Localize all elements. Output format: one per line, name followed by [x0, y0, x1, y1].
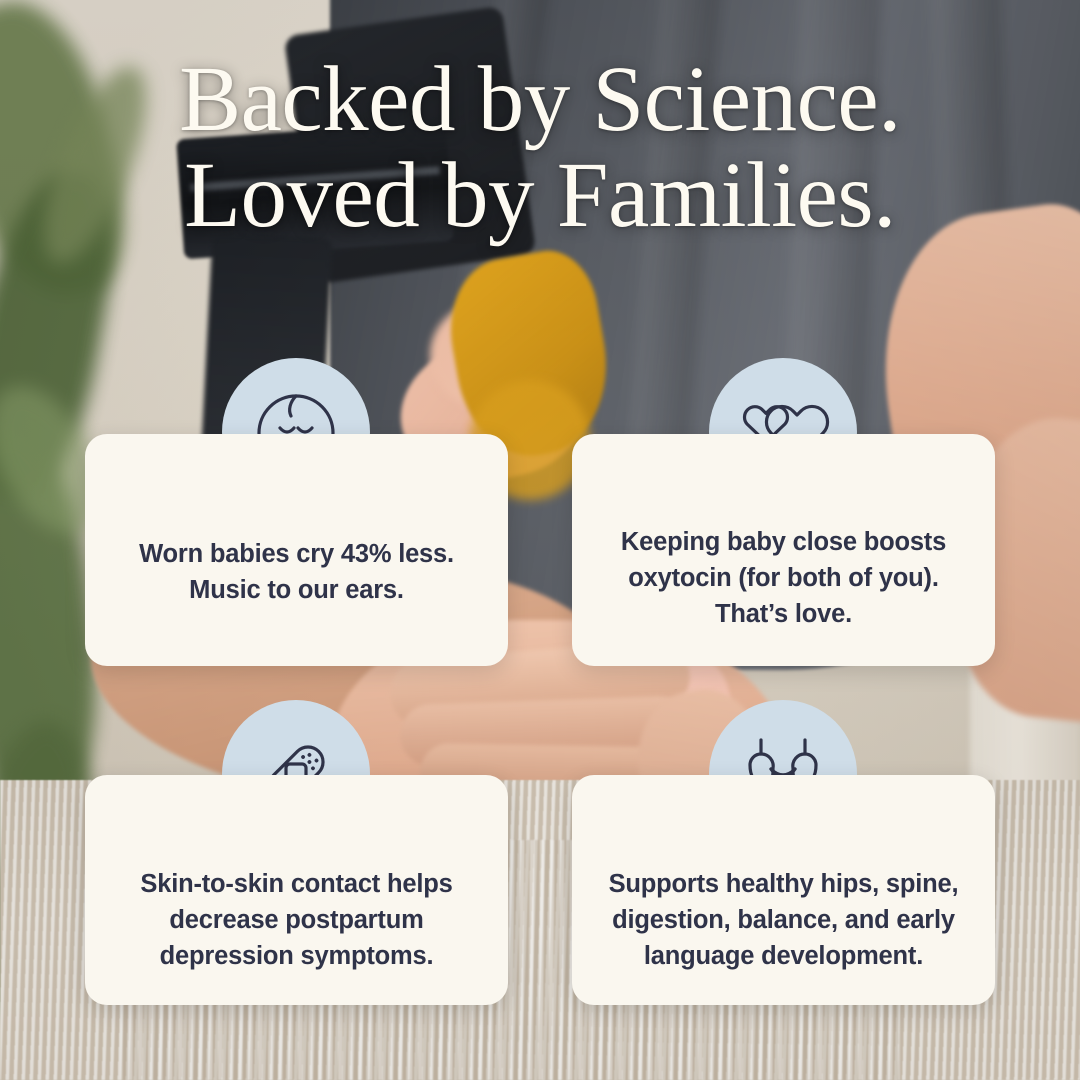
- fact-card-text: Keeping baby close boosts oxytocin (for …: [621, 524, 946, 633]
- fact-card-cry-less: Worn babies cry 43% less. Music to our e…: [85, 434, 508, 666]
- fact-card-text: Supports healthy hips, spine, digestion,…: [609, 866, 959, 975]
- fact-card-hips-spine: Supports healthy hips, spine, digestion,…: [572, 775, 995, 1005]
- promo-graphic: Backed by Science. Loved by Families. Wo…: [0, 0, 1080, 1080]
- fact-card-text: Skin-to-skin contact helps decrease post…: [140, 866, 452, 975]
- fact-card-postpartum: Skin-to-skin contact helps decrease post…: [85, 775, 508, 1005]
- page-title: Backed by Science. Loved by Families.: [0, 52, 1080, 244]
- fact-card-oxytocin: Keeping baby close boosts oxytocin (for …: [572, 434, 995, 666]
- fact-card-text: Worn babies cry 43% less. Music to our e…: [139, 536, 454, 608]
